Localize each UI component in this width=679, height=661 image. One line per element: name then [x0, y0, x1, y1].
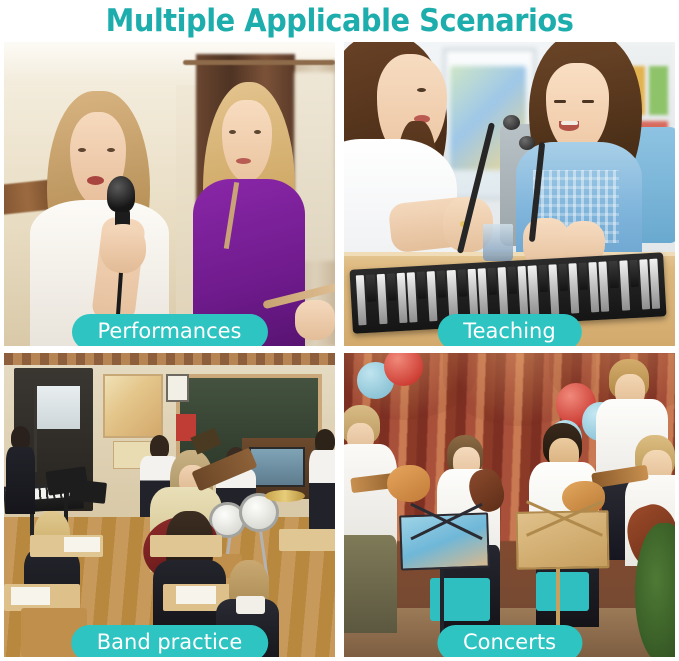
panel-caption-band-practice: Band practice	[71, 625, 269, 657]
panel-caption-performances: Performances	[71, 314, 267, 346]
concerts-photo	[344, 353, 675, 657]
panel-caption-teaching: Teaching	[437, 314, 581, 346]
performances-photo	[4, 42, 335, 346]
mandolin-instrument	[387, 465, 430, 501]
microphone-icon	[107, 176, 135, 212]
scenario-grid: Performances	[0, 42, 679, 661]
scenario-panel-band-practice[interactable]: Band practice	[4, 353, 335, 657]
scenario-panel-teaching[interactable]: Teaching	[344, 42, 675, 346]
band-practice-photo	[4, 353, 335, 657]
page-title: Multiple Applicable Scenarios	[106, 3, 574, 39]
panel-caption-concerts: Concerts	[437, 625, 582, 657]
page-header: Multiple Applicable Scenarios	[0, 0, 679, 42]
scenario-gallery-page: Multiple Applicable Scenarios	[0, 0, 679, 661]
scenario-panel-performances[interactable]: Performances	[4, 42, 335, 346]
teaching-photo	[344, 42, 675, 346]
scenario-panel-concerts[interactable]: Concerts	[344, 353, 675, 657]
